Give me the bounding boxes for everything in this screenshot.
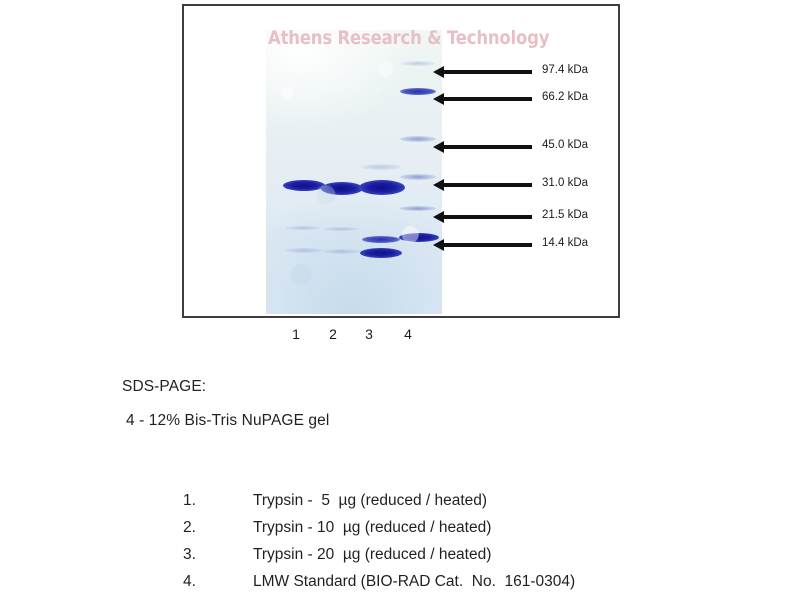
gel-band-ladder-66-lane4 <box>400 88 436 95</box>
gel-band-trypsin-main-lane2 <box>321 182 363 195</box>
legend-row: 4.LMW Standard (BIO-RAD Cat. No. 161-030… <box>183 573 783 600</box>
marker-label: 66.2 kDa <box>542 91 588 103</box>
gel-band-ladder-45-lane4 <box>400 136 436 142</box>
marker-label: 45.0 kDa <box>542 139 588 151</box>
marker-row-45-0-kda: 45.0 kDa <box>442 139 617 155</box>
gel-band-trypsin-minor-mid-lane3 <box>362 236 400 243</box>
left-arrow-icon <box>442 145 532 149</box>
gel-photograph <box>266 30 442 314</box>
gel-band-trypsin-minor-low-lane1 <box>285 248 323 253</box>
gel-band-trypsin-trace-lane3 <box>361 164 401 170</box>
left-arrow-icon <box>442 215 532 219</box>
caption-title: SDS-PAGE: <box>122 378 682 396</box>
legend-text: Trypsin - 20 µg (reduced / heated) <box>253 546 491 564</box>
legend-row: 2.Trypsin - 10 µg (reduced / heated) <box>183 519 783 546</box>
left-arrow-icon <box>442 70 532 74</box>
marker-row-31-0-kda: 31.0 kDa <box>442 177 617 193</box>
legend-row: 3.Trypsin - 20 µg (reduced / heated) <box>183 546 783 573</box>
left-arrow-icon <box>442 183 532 187</box>
left-arrow-icon <box>442 243 532 247</box>
legend-row: 1.Trypsin - 5 µg (reduced / heated) <box>183 492 783 519</box>
gel-band-ladder-21-lane4 <box>400 206 436 211</box>
lane-number-2: 2 <box>323 326 343 342</box>
caption-subtitle: 4 - 12% Bis-Tris NuPAGE gel <box>126 412 682 430</box>
figure-panel: Athens Research & Technology 97.4 kDa66.… <box>182 4 620 318</box>
legend-index: 2. <box>183 519 253 537</box>
legend-text: LMW Standard (BIO-RAD Cat. No. 161-0304) <box>253 573 575 591</box>
marker-label: 31.0 kDa <box>542 177 588 189</box>
lane-number-row: 1234 <box>182 326 620 348</box>
left-arrow-icon <box>442 97 532 101</box>
legend-index: 3. <box>183 546 253 564</box>
gel-band-ladder-31-lane4 <box>400 174 436 180</box>
gel-band-trypsin-main-lane3 <box>359 180 405 195</box>
marker-row-97-4-kda: 97.4 kDa <box>442 64 617 80</box>
sample-legend-list: 1.Trypsin - 5 µg (reduced / heated)2.Try… <box>183 492 783 600</box>
marker-label: 97.4 kDa <box>542 64 588 76</box>
gel-band-trypsin-main-lane1 <box>283 180 325 191</box>
marker-row-66-2-kda: 66.2 kDa <box>442 91 617 107</box>
marker-label: 14.4 kDa <box>542 237 588 249</box>
marker-label: 21.5 kDa <box>542 209 588 221</box>
lane-number-1: 1 <box>286 326 306 342</box>
legend-text: Trypsin - 5 µg (reduced / heated) <box>253 492 487 510</box>
gel-band-trypsin-trace-lane1 <box>285 226 321 230</box>
caption-block: SDS-PAGE: 4 - 12% Bis-Tris NuPAGE gel <box>122 378 682 430</box>
gel-band-trypsin-minor-low-lane3 <box>360 248 402 258</box>
legend-index: 1. <box>183 492 253 510</box>
marker-row-21-5-kda: 21.5 kDa <box>442 209 617 225</box>
lane-number-3: 3 <box>359 326 379 342</box>
marker-row-14-4-kda: 14.4 kDa <box>442 237 617 253</box>
gel-band-ladder-97-lane4 <box>401 61 435 66</box>
legend-index: 4. <box>183 573 253 591</box>
legend-text: Trypsin - 10 µg (reduced / heated) <box>253 519 491 537</box>
lane-number-4: 4 <box>398 326 418 342</box>
gel-band-trypsin-trace-lane2 <box>323 227 359 231</box>
gel-band-trypsin-minor-low-lane2 <box>323 249 361 254</box>
